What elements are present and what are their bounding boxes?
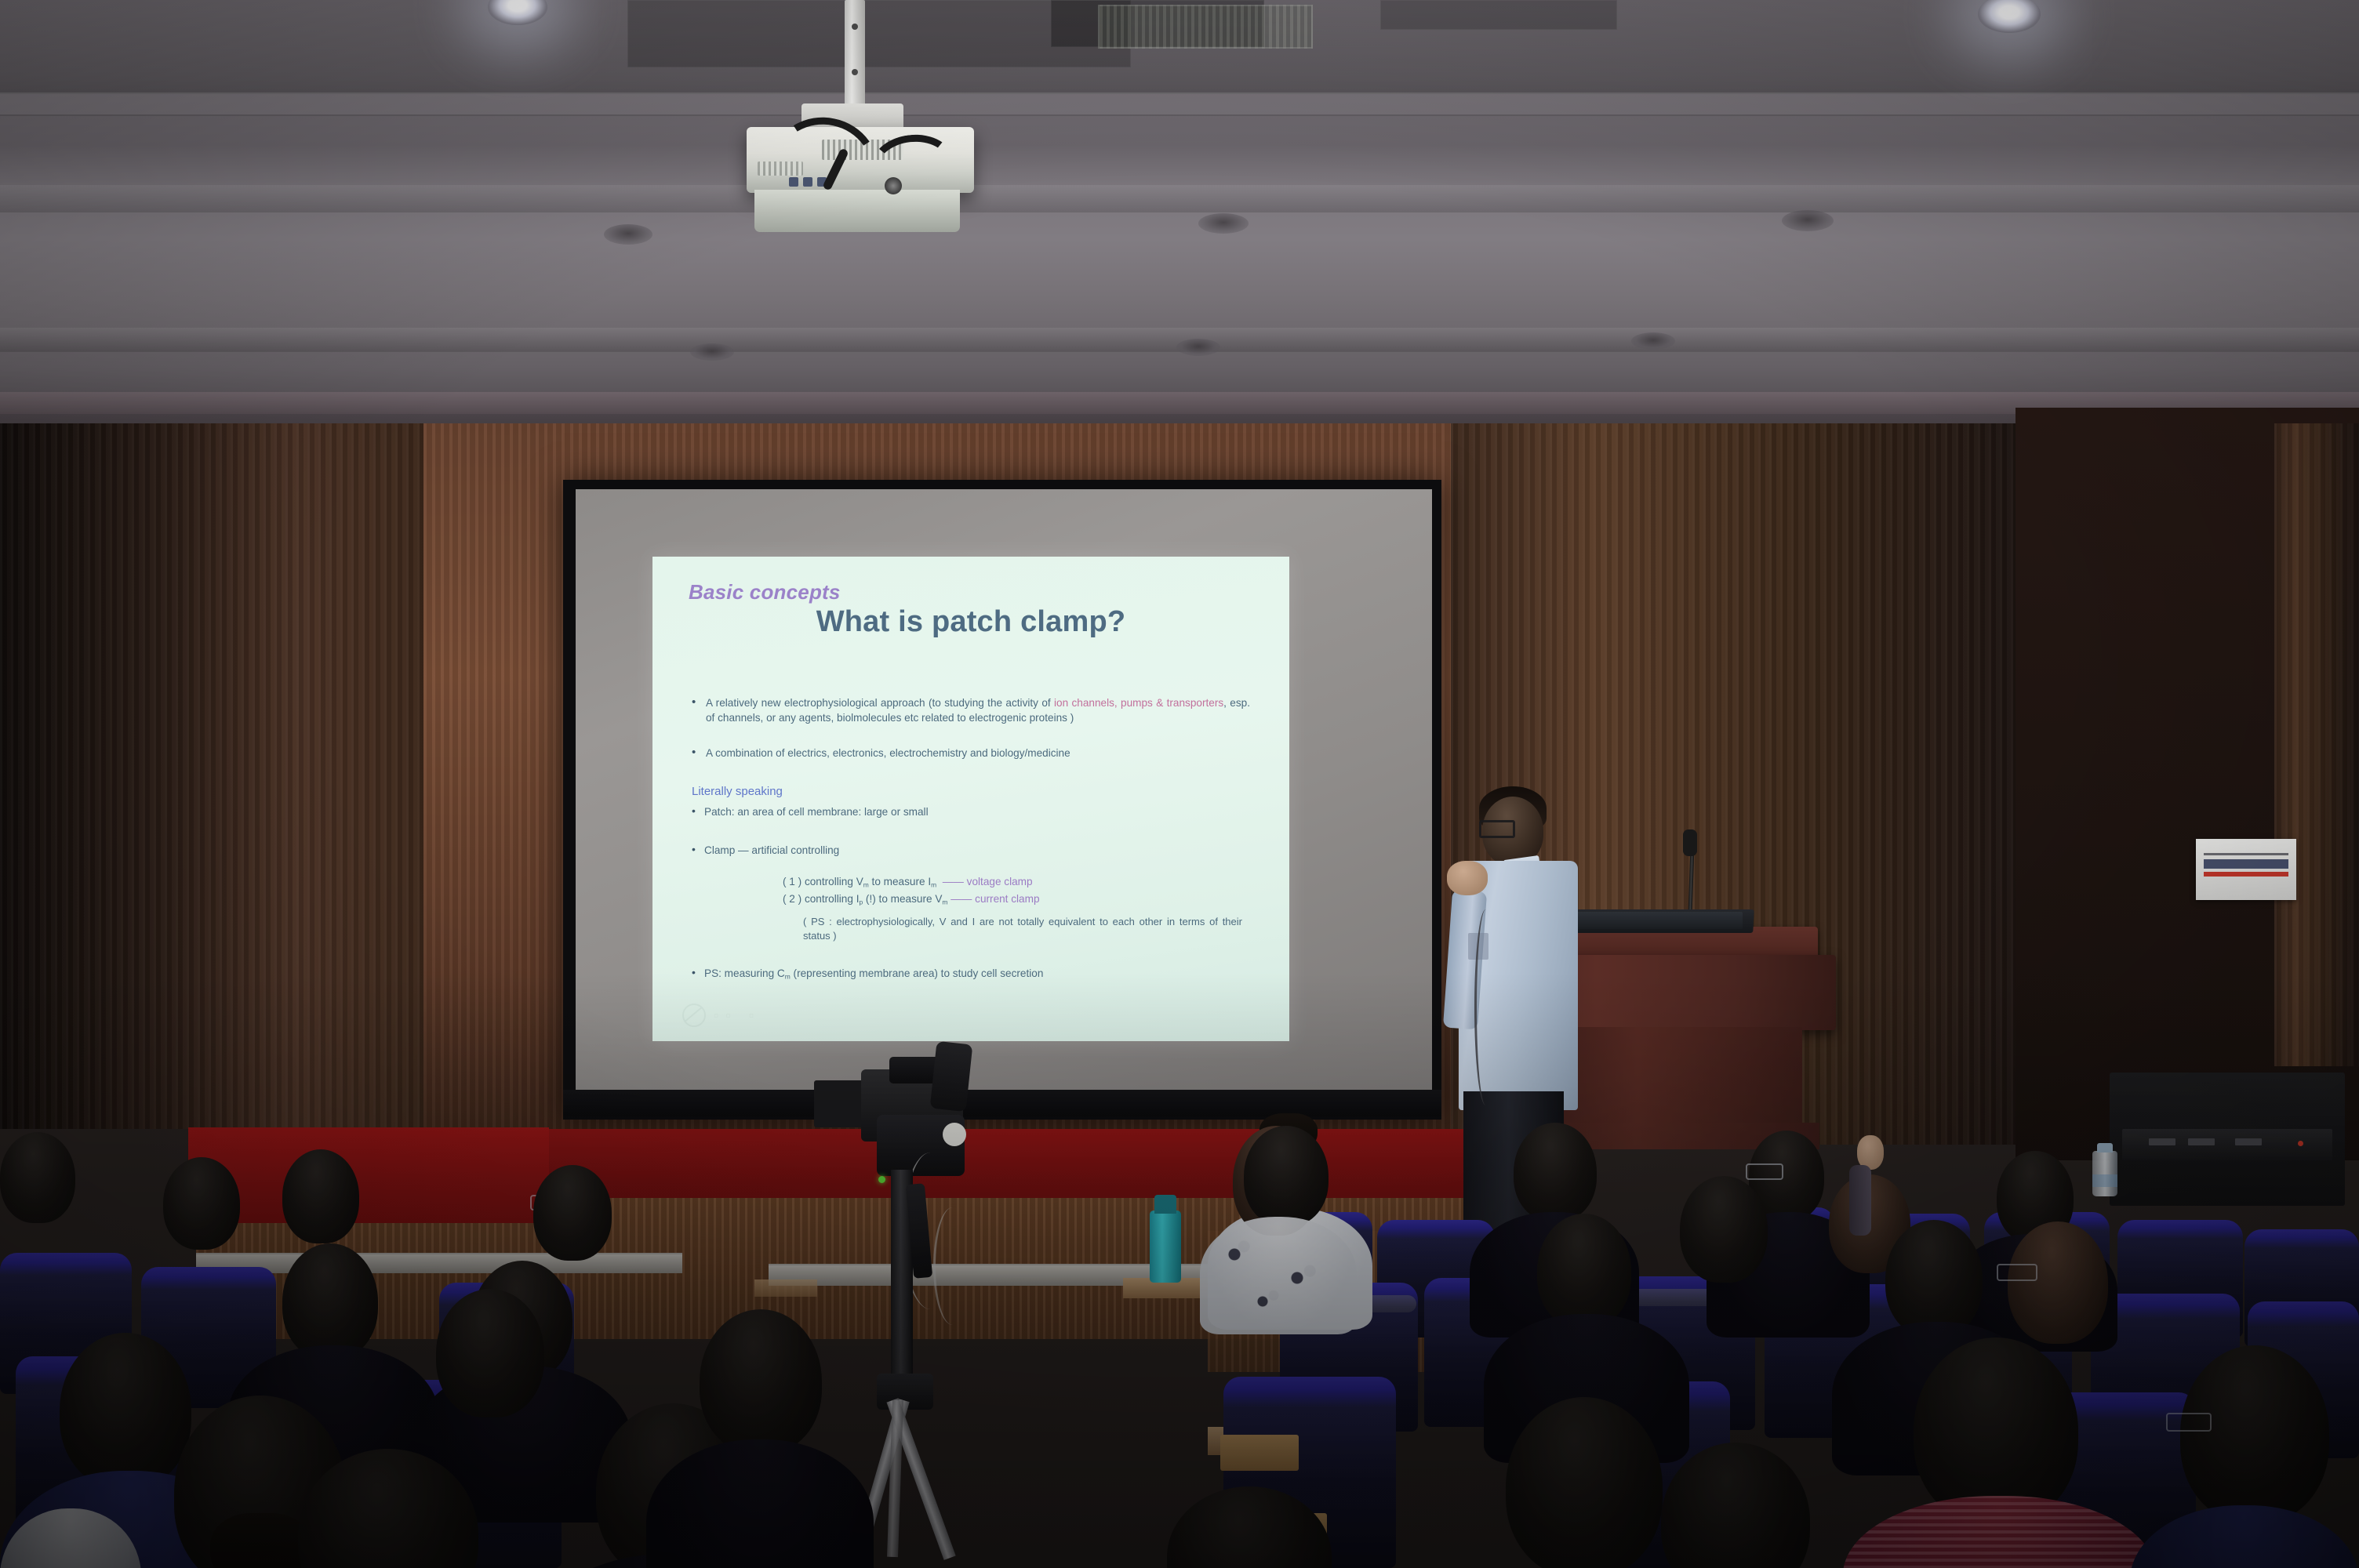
slide-bullet-1-text: A relatively new electrophysiological ap… xyxy=(706,696,1250,726)
slide-bullet-1: • A relatively new electrophysiological … xyxy=(692,696,1250,726)
wall-mounted-sign xyxy=(2196,839,2296,900)
ceiling-downlight-4 xyxy=(1198,213,1249,234)
laptop-screen xyxy=(1556,912,1743,929)
audience-glasses-far-3 xyxy=(1746,1163,1783,1180)
clamp-2-dash: —— xyxy=(951,893,972,905)
slide-content: Basic concepts What is patch clamp? • A … xyxy=(652,557,1289,1041)
lecture-hall-scene: Basic concepts What is patch clamp? • A … xyxy=(0,0,2359,1568)
av-rack-slot-3 xyxy=(2235,1138,2262,1145)
watermark-circle-icon xyxy=(682,1004,706,1027)
clamp-item-2: ( 2 ) controlling Ip (!) to measure Vm —… xyxy=(783,892,1250,907)
ps-sub: m xyxy=(785,973,791,981)
bullet-dot-icon: • xyxy=(692,696,706,708)
wall-left-paneling xyxy=(0,423,439,1129)
audience-torso-ledge xyxy=(1200,1217,1357,1334)
slide-ps-note: ( PS : electrophysiologically, V and I a… xyxy=(803,915,1242,943)
clamp-1-pre: controlling V xyxy=(805,876,863,887)
projector-mount-pole xyxy=(845,0,865,110)
ceiling-beam-1 xyxy=(0,185,2359,212)
audience-head-far-2 xyxy=(1514,1123,1597,1221)
camera-cable-2 xyxy=(933,1207,972,1325)
ceiling-band-1 xyxy=(0,93,2359,116)
water-bottle-teal-cap xyxy=(1154,1195,1176,1214)
slide-bullet-2-text: A combination of electrics, electronics,… xyxy=(706,746,1250,761)
slide-bullet-2: • A combination of electrics, electronic… xyxy=(692,746,1250,761)
presenter-hand xyxy=(1447,861,1488,895)
slide-bullet-ps-text: PS: measuring Cm (representing membrane … xyxy=(704,967,1250,982)
audience-head-front-5 xyxy=(700,1309,822,1454)
camera-control-knob xyxy=(943,1123,966,1146)
b1-seg-1-highlight: ion channels, pumps & transporters xyxy=(1054,697,1223,709)
sign-text-block xyxy=(2204,859,2288,869)
slide-bullet-ps: • PS: measuring Cm (representing membran… xyxy=(692,967,1250,982)
projector-lens xyxy=(885,177,902,194)
clamp-item-list: ( 1 ) controlling Vm to measure Im —— vo… xyxy=(783,875,1250,943)
clamp-1-sub2: m xyxy=(931,881,936,889)
clamp-1-name: voltage clamp xyxy=(967,876,1033,887)
audience-head-far-7 xyxy=(282,1149,359,1243)
ps-post: (representing membrane area) to study ce… xyxy=(791,967,1044,979)
water-bottle-right-cap xyxy=(2097,1143,2113,1152)
audience-glasses-mid-6 xyxy=(1997,1264,2037,1281)
watermark-glyphs: ▫▫ ▫ xyxy=(714,1007,761,1024)
clamp-1-mid: to measure I xyxy=(869,876,931,887)
audience-head-front-10 xyxy=(1506,1397,1663,1568)
ceiling-downlight-3 xyxy=(604,224,652,245)
sign-rule-red xyxy=(2204,872,2288,877)
slide-bullet-patch: • Patch: an area of cell membrane: large… xyxy=(692,805,1250,820)
gooseneck-microphone-head xyxy=(1683,829,1697,856)
audience-head-far-6 xyxy=(163,1157,240,1250)
audience-head-far-8 xyxy=(533,1165,612,1261)
audience-head-ledge xyxy=(1244,1126,1329,1226)
left-red-panel xyxy=(188,1127,549,1223)
slide-title: What is patch clamp? xyxy=(652,605,1289,639)
camera-recording-led xyxy=(878,1176,885,1183)
av-rack-slot-2 xyxy=(2188,1138,2215,1145)
audience-head-far-9 xyxy=(0,1132,75,1223)
av-rack-power-led xyxy=(2298,1141,2303,1146)
ceiling-downlight-8 xyxy=(1631,332,1675,350)
ps-pre: PS: measuring C xyxy=(704,967,785,979)
ceiling-recess-3 xyxy=(1380,0,1617,30)
clamp-1-sub1: m xyxy=(863,881,869,889)
audience-head-mid-5 xyxy=(1885,1220,1983,1338)
bullet-dot-icon: • xyxy=(692,746,706,758)
slide-bullet-patch-text: Patch: an area of cell membrane: large o… xyxy=(704,805,1250,820)
ceiling-downlight-5 xyxy=(1782,210,1834,231)
clamp-2-mid: (!) to measure V xyxy=(863,893,942,905)
ceiling-air-grille xyxy=(1098,5,1313,49)
b1-seg-0: A relatively new electrophysiological ap… xyxy=(706,697,1054,709)
slide-section-heading: Literally speaking xyxy=(692,784,1250,800)
audience-head-front-6 xyxy=(436,1289,544,1417)
bullet-dot-icon: • xyxy=(692,967,704,978)
slide-watermark: ▫▫ ▫ xyxy=(682,1004,761,1027)
audience-head-front-9 xyxy=(2180,1345,2329,1523)
audience-head-front-1 xyxy=(60,1333,191,1488)
water-bottle-right-label xyxy=(2092,1174,2117,1187)
av-rack-slot-1 xyxy=(2149,1138,2175,1145)
audience-head-mid-4 xyxy=(1680,1176,1768,1283)
clamp-1-dash: —— xyxy=(943,876,964,887)
audience-raised-arm xyxy=(1849,1165,1871,1236)
audience-hairbun-front-2 xyxy=(210,1513,312,1568)
clamp-2-num: ( 2 ) xyxy=(783,893,801,905)
water-bottle-right xyxy=(2092,1151,2117,1196)
sign-rule-top xyxy=(2204,853,2288,855)
clamp-1-num: ( 1 ) xyxy=(783,876,801,887)
clamp-2-sub2: m xyxy=(942,898,947,906)
seat-armrest-wood-1 xyxy=(1220,1435,1299,1471)
audience-glasses-front-9 xyxy=(2166,1413,2212,1432)
presenter-glasses xyxy=(1479,820,1515,838)
ceiling-downlight-6 xyxy=(690,343,734,361)
wall-far-right-paneling xyxy=(2274,423,2359,1066)
ledge-wood-shelf-2 xyxy=(754,1279,817,1297)
bullet-dot-icon: • xyxy=(692,844,704,855)
audience-head-mid-6 xyxy=(2008,1221,2108,1344)
slide-kicker: Basic concepts xyxy=(689,580,841,604)
projection-screen-bottom-bar xyxy=(563,1090,1441,1116)
camera-shotgun-microphone xyxy=(930,1041,973,1112)
audience-head-mid-1 xyxy=(282,1243,378,1359)
presenter-mic-cord xyxy=(1474,909,1497,1105)
audience-head-mid-3 xyxy=(1537,1214,1631,1328)
slide-bullet-clamp-text: Clamp — artificial controlling xyxy=(704,844,1250,858)
clamp-item-1: ( 1 ) controlling Vm to measure Im —— vo… xyxy=(783,875,1250,890)
ceiling-downlight-7 xyxy=(1176,339,1220,356)
water-bottle-teal xyxy=(1150,1210,1181,1283)
slide-bullet-clamp: • Clamp — artificial controlling xyxy=(692,844,1250,858)
bullet-dot-icon: • xyxy=(692,805,704,816)
clamp-2-name: current clamp xyxy=(975,893,1039,905)
clamp-2-pre: controlling I xyxy=(805,893,860,905)
